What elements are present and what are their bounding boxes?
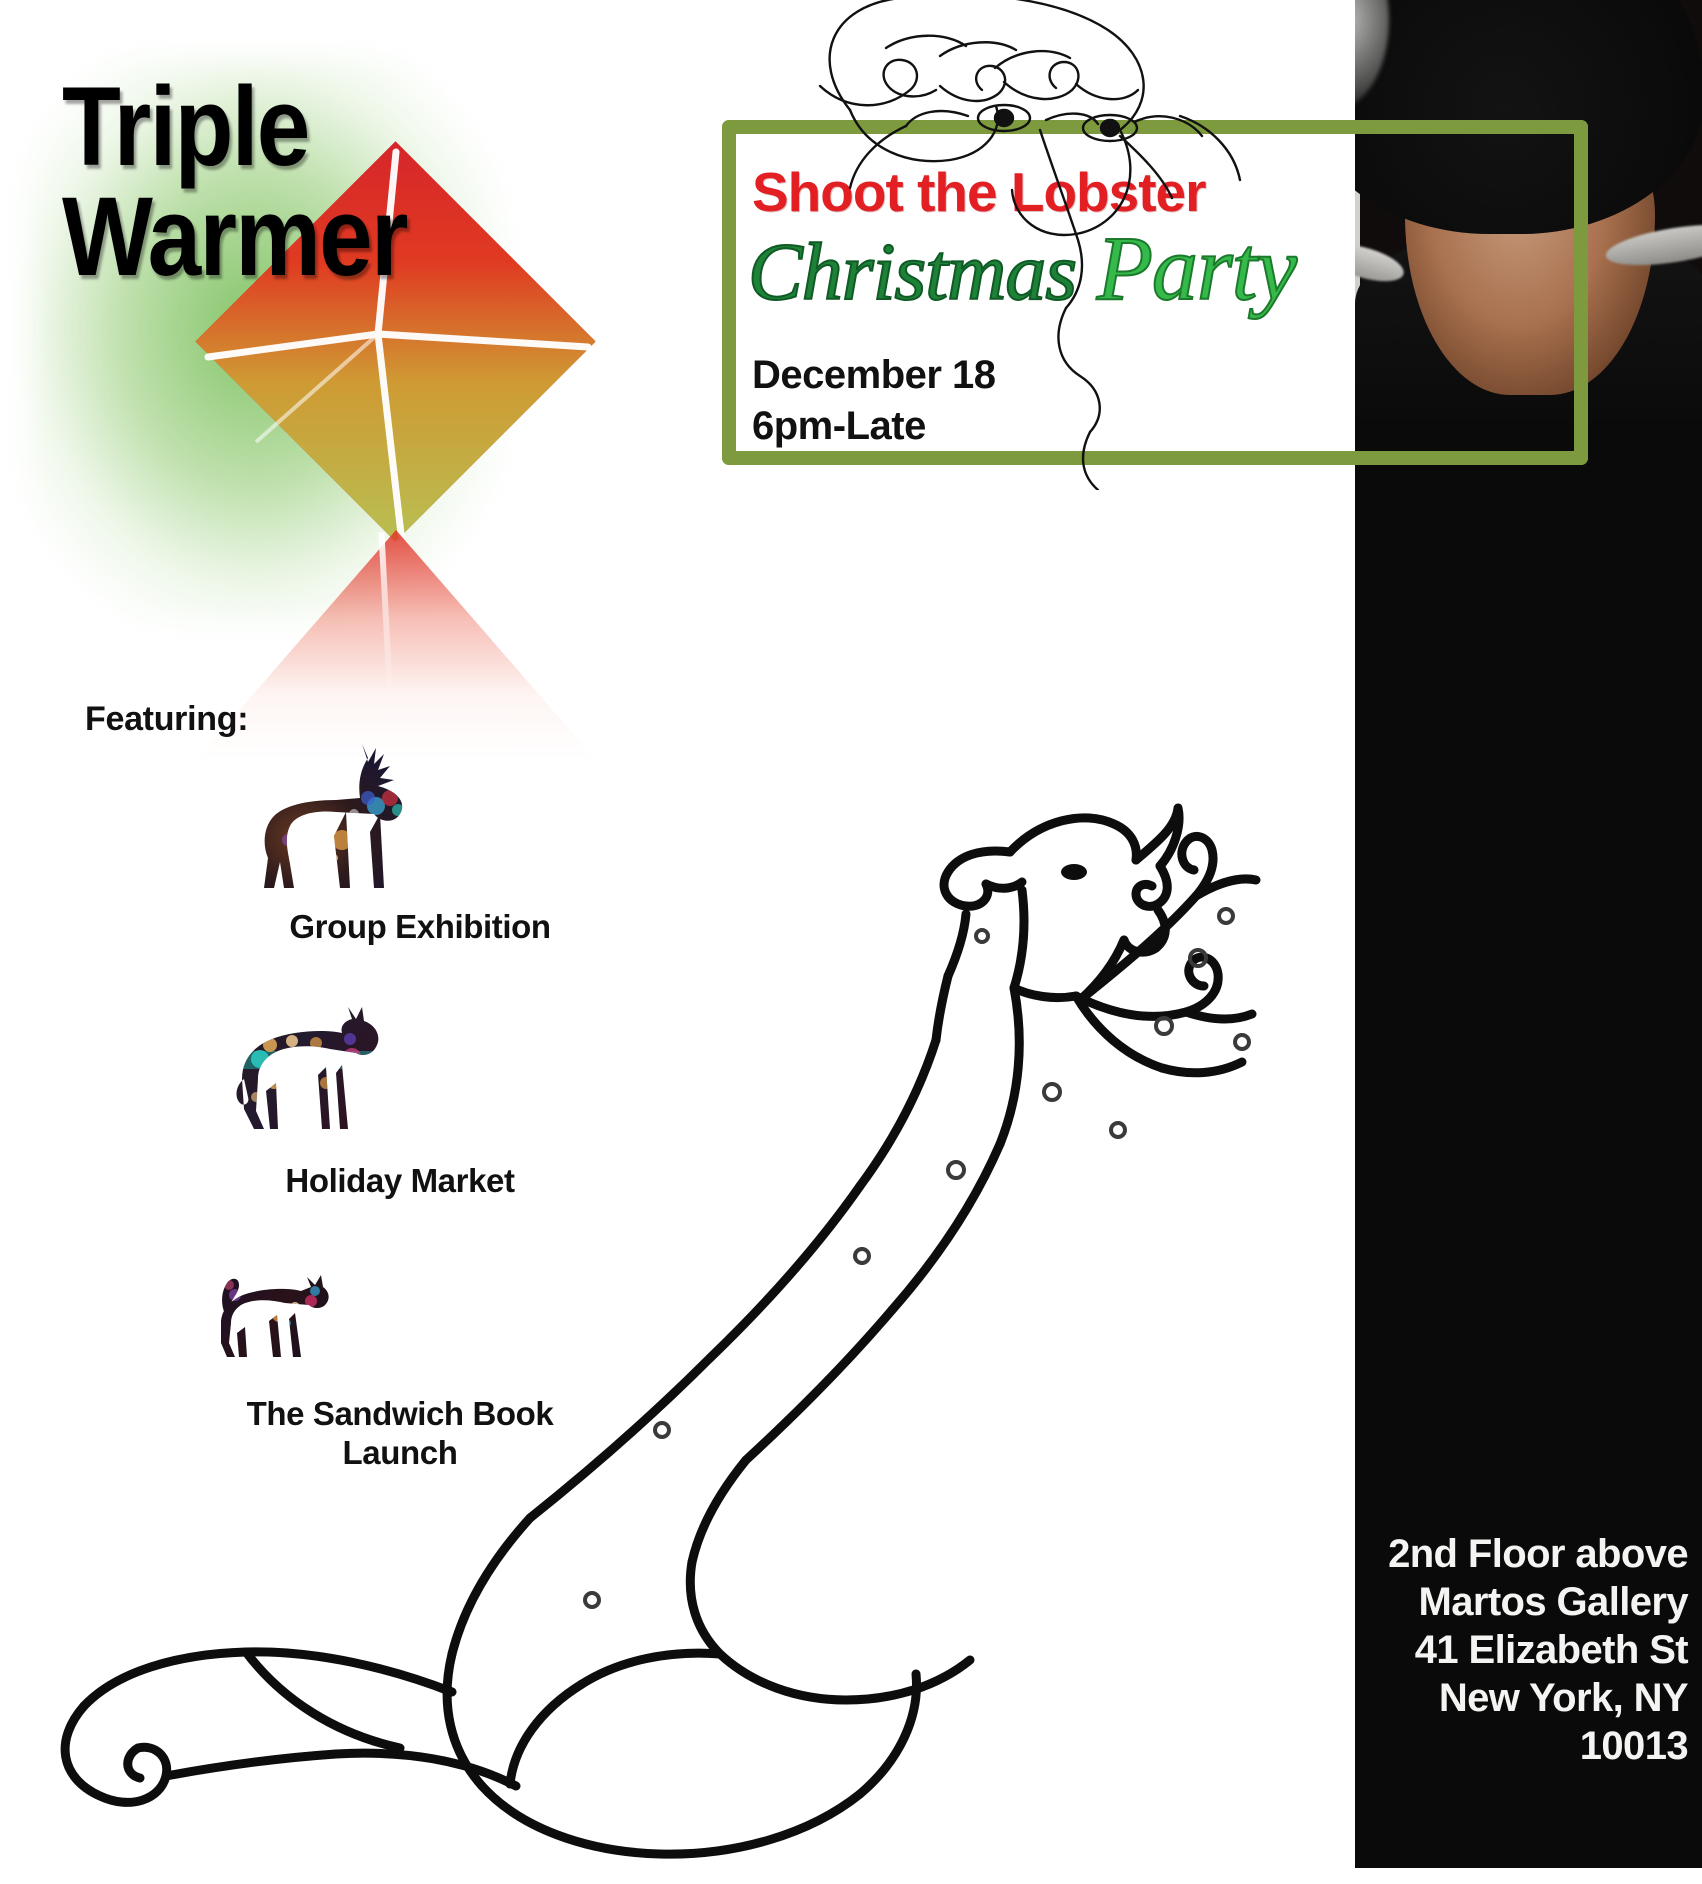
title-line-2: Warmer: [62, 174, 407, 299]
black-side-panel: 2nd Floor above Martos Gallery 41 Elizab…: [1355, 0, 1702, 1868]
woman-in-black-fur-hat-photo: [1355, 0, 1702, 420]
poster-canvas: Triple Warmer 2nd Floor above Martos Gal…: [0, 0, 1702, 1884]
title-line-1: Triple: [62, 64, 309, 189]
page-title: Triple Warmer: [62, 72, 407, 292]
venue-address: 2nd Floor above Martos Gallery 41 Elizab…: [1368, 1530, 1688, 1770]
scribbled-face-line-drawing: [790, 0, 1260, 490]
rearing-leopard-line-drawing: [20, 700, 1270, 1884]
